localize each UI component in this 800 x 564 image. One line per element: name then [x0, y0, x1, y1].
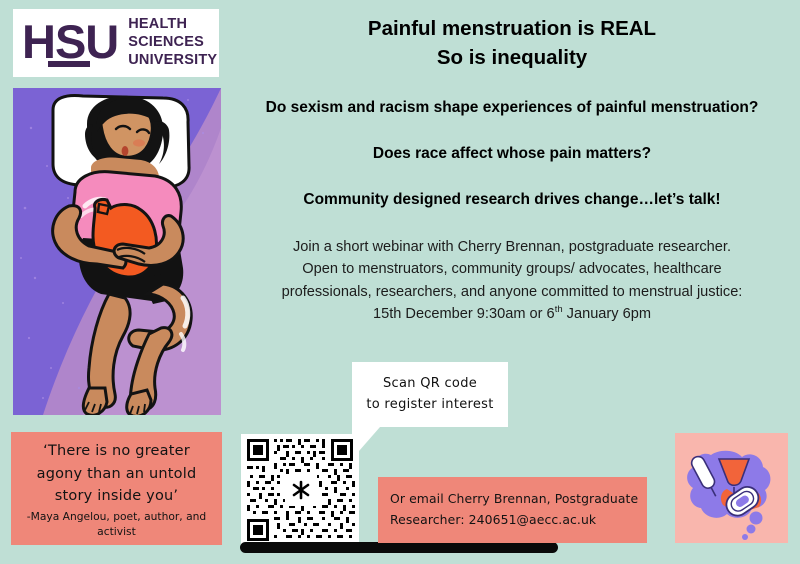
logo-word-line2: SCIENCES [128, 34, 217, 52]
body-line-4-dates: 15th December 9:30am or 6th January 6pm [232, 303, 792, 325]
logo-wordmark: HEALTH SCIENCES UNIVERSITY [128, 16, 217, 69]
headline-line-2: So is inequality [232, 43, 792, 72]
qr-callout-bubble: Scan QR code to register interest [352, 362, 508, 427]
body-line-3: professionals, researchers, and anyone c… [232, 281, 792, 303]
quote-attribution-line-1: -Maya Angelou, poet, author, and [20, 510, 213, 525]
quote-line-1: ‘There is no greater [20, 440, 213, 463]
logo-underline-shape [48, 61, 90, 67]
body-line-2: Open to menstruators, community groups/ … [232, 258, 792, 280]
menstrual-products-card [675, 433, 788, 543]
question-line-2: Does race affect whose pain matters? [232, 145, 792, 163]
hsu-logo: HSU HEALTH SCIENCES UNIVERSITY [13, 9, 219, 77]
quote-attribution-line-2: activist [20, 525, 213, 540]
date-prefix: 15th December 9:30am or 6 [373, 306, 555, 322]
poster-canvas: HSU HEALTH SCIENCES UNIVERSITY [0, 0, 800, 564]
page-title: Painful menstruation is REAL So is inequ… [232, 14, 792, 72]
qr-code[interactable] [241, 434, 359, 546]
qr-callout-line-1: Scan QR code [383, 374, 477, 394]
quote-card: ‘There is no greater agony than an untol… [11, 432, 222, 545]
qr-callout-line-2: to register interest [366, 395, 493, 415]
headline-line-1: Painful menstruation is REAL [232, 14, 792, 43]
quote-line-3: story inside you’ [20, 485, 213, 508]
body-line-1: Join a short webinar with Cherry Brennan… [232, 236, 792, 258]
person-illustration [13, 88, 221, 415]
email-contact-card[interactable]: Or email Cherry Brennan, Postgraduate Re… [378, 477, 647, 543]
date-suffix: January 6pm [563, 306, 651, 322]
email-line-1: Or email Cherry Brennan, Postgraduate [390, 489, 647, 510]
logo-mark-text: HSU [22, 18, 118, 69]
question-line-1: Do sexism and racism shape experiences o… [232, 99, 792, 117]
webinar-details: Join a short webinar with Cherry Brennan… [232, 236, 792, 325]
qr-callout-tail-shape [352, 427, 402, 459]
qr-underline-bar [240, 542, 558, 553]
logo-word-line1: HEALTH [128, 16, 217, 34]
quote-attribution: -Maya Angelou, poet, author, and activis… [20, 510, 213, 540]
email-line-2: Researcher: 240651@aecc.ac.uk [390, 510, 647, 531]
logo-word-line3: UNIVERSITY [128, 52, 217, 70]
quote-line-2: agony than an untold [20, 463, 213, 486]
question-line-3: Community designed research drives chang… [232, 191, 792, 209]
date-ordinal-suffix: th [555, 304, 563, 315]
